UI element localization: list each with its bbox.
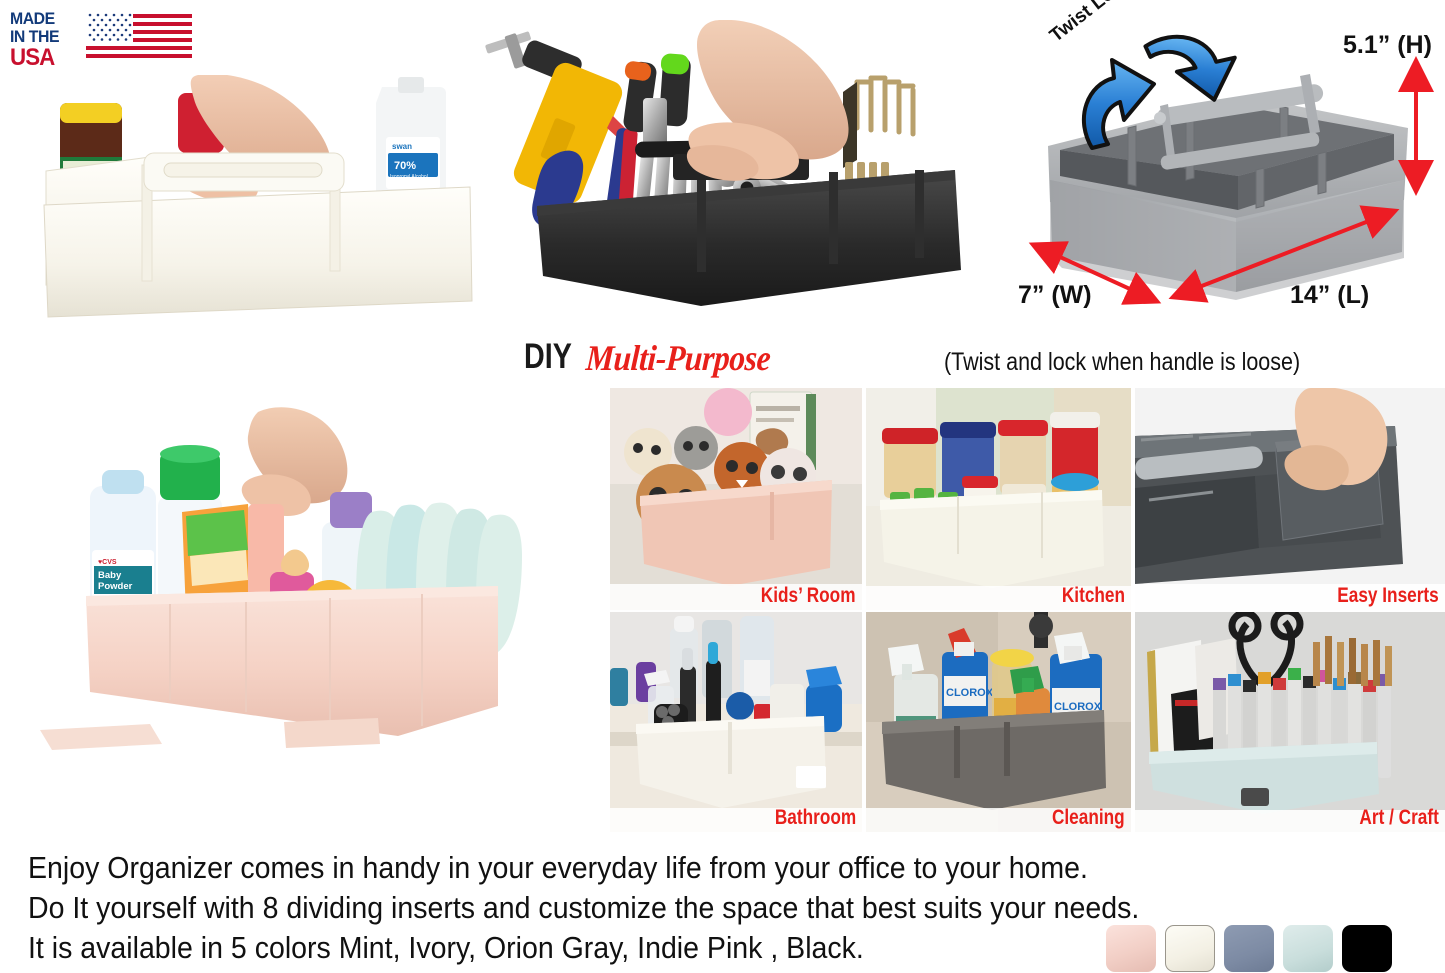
color-swatch-ivory: [1165, 925, 1215, 972]
length-dimension-label: 14” (L): [1290, 281, 1369, 310]
use-case-cell-kids-room: Kids’ Room: [610, 388, 862, 610]
hero-photo-tool-organizer: [485, 20, 995, 320]
color-swatch-orion-gray: [1224, 925, 1274, 972]
use-case-label: Art / Craft: [1360, 806, 1439, 830]
use-case-cell-art-craft: Art / Craft: [1135, 612, 1445, 832]
use-case-label: Kids’ Room: [761, 584, 856, 608]
use-case-label: Kitchen: [1062, 584, 1125, 608]
svg-text:Baby: Baby: [98, 570, 122, 581]
hero-photo-baby-organizer: ♥CVS Baby Powder: [30, 400, 570, 750]
use-case-cell-bathroom: Bathroom: [610, 612, 862, 832]
twist-lock-note: (Twist and lock when handle is loose): [944, 348, 1300, 377]
color-swatch-indie-pink: [1106, 925, 1156, 972]
use-case-cell-cleaning: CLOROX CLOROX Cleaning: [866, 612, 1131, 832]
use-case-cell-kitchen: Kitchen: [866, 388, 1131, 610]
svg-text:70%: 70%: [394, 160, 416, 172]
dimension-diagram: 5.1” (H) 14” (L) 7” (W): [1000, 0, 1445, 330]
svg-text:CLOROX: CLOROX: [946, 687, 994, 699]
usa-flag-icon: [86, 12, 192, 66]
use-case-label: Bathroom: [775, 806, 856, 830]
height-dimension-label: 5.1” (H): [1343, 31, 1432, 60]
use-case-label: Cleaning: [1052, 806, 1125, 830]
hero-photo-medicine-organizer: Nature Made swan 70% Isopropyl Alcohol B…: [30, 75, 490, 320]
svg-text:♥CVS: ♥CVS: [98, 559, 117, 566]
badge-line-3: USA: [10, 46, 86, 70]
badge-line-1: MADE: [10, 10, 86, 28]
made-in-usa-badge: MADE IN THE USA: [10, 8, 195, 70]
use-case-label: Easy Inserts: [1338, 584, 1439, 608]
color-swatch-black: [1342, 925, 1392, 972]
svg-text:swan: swan: [392, 142, 412, 151]
description-line-1: Enjoy Organizer comes in handy in your e…: [28, 848, 1040, 888]
description-line-2: Do It yourself with 8 dividing inserts a…: [28, 888, 1040, 928]
svg-text:Isopropyl Alcohol: Isopropyl Alcohol: [390, 174, 428, 180]
width-dimension-label: 7” (W): [1018, 281, 1092, 310]
product-description: Enjoy Organizer comes in handy in your e…: [28, 848, 1128, 968]
product-infographic: MADE IN THE USA: [0, 0, 1445, 973]
diy-multipurpose-heading: DIYMulti-Purpose: [524, 337, 796, 377]
multi-purpose-text: Multi-Purpose: [585, 337, 772, 379]
description-line-3: It is available in 5 colors Mint, Ivory,…: [28, 928, 1040, 968]
diy-text: DIY: [524, 337, 572, 377]
use-case-cell-easy-inserts: Easy Inserts: [1135, 388, 1445, 610]
made-in-usa-text: MADE IN THE USA: [10, 10, 86, 70]
color-swatch-mint: [1283, 925, 1333, 972]
svg-text:Powder: Powder: [98, 581, 133, 592]
color-swatch-row: [1106, 925, 1392, 972]
